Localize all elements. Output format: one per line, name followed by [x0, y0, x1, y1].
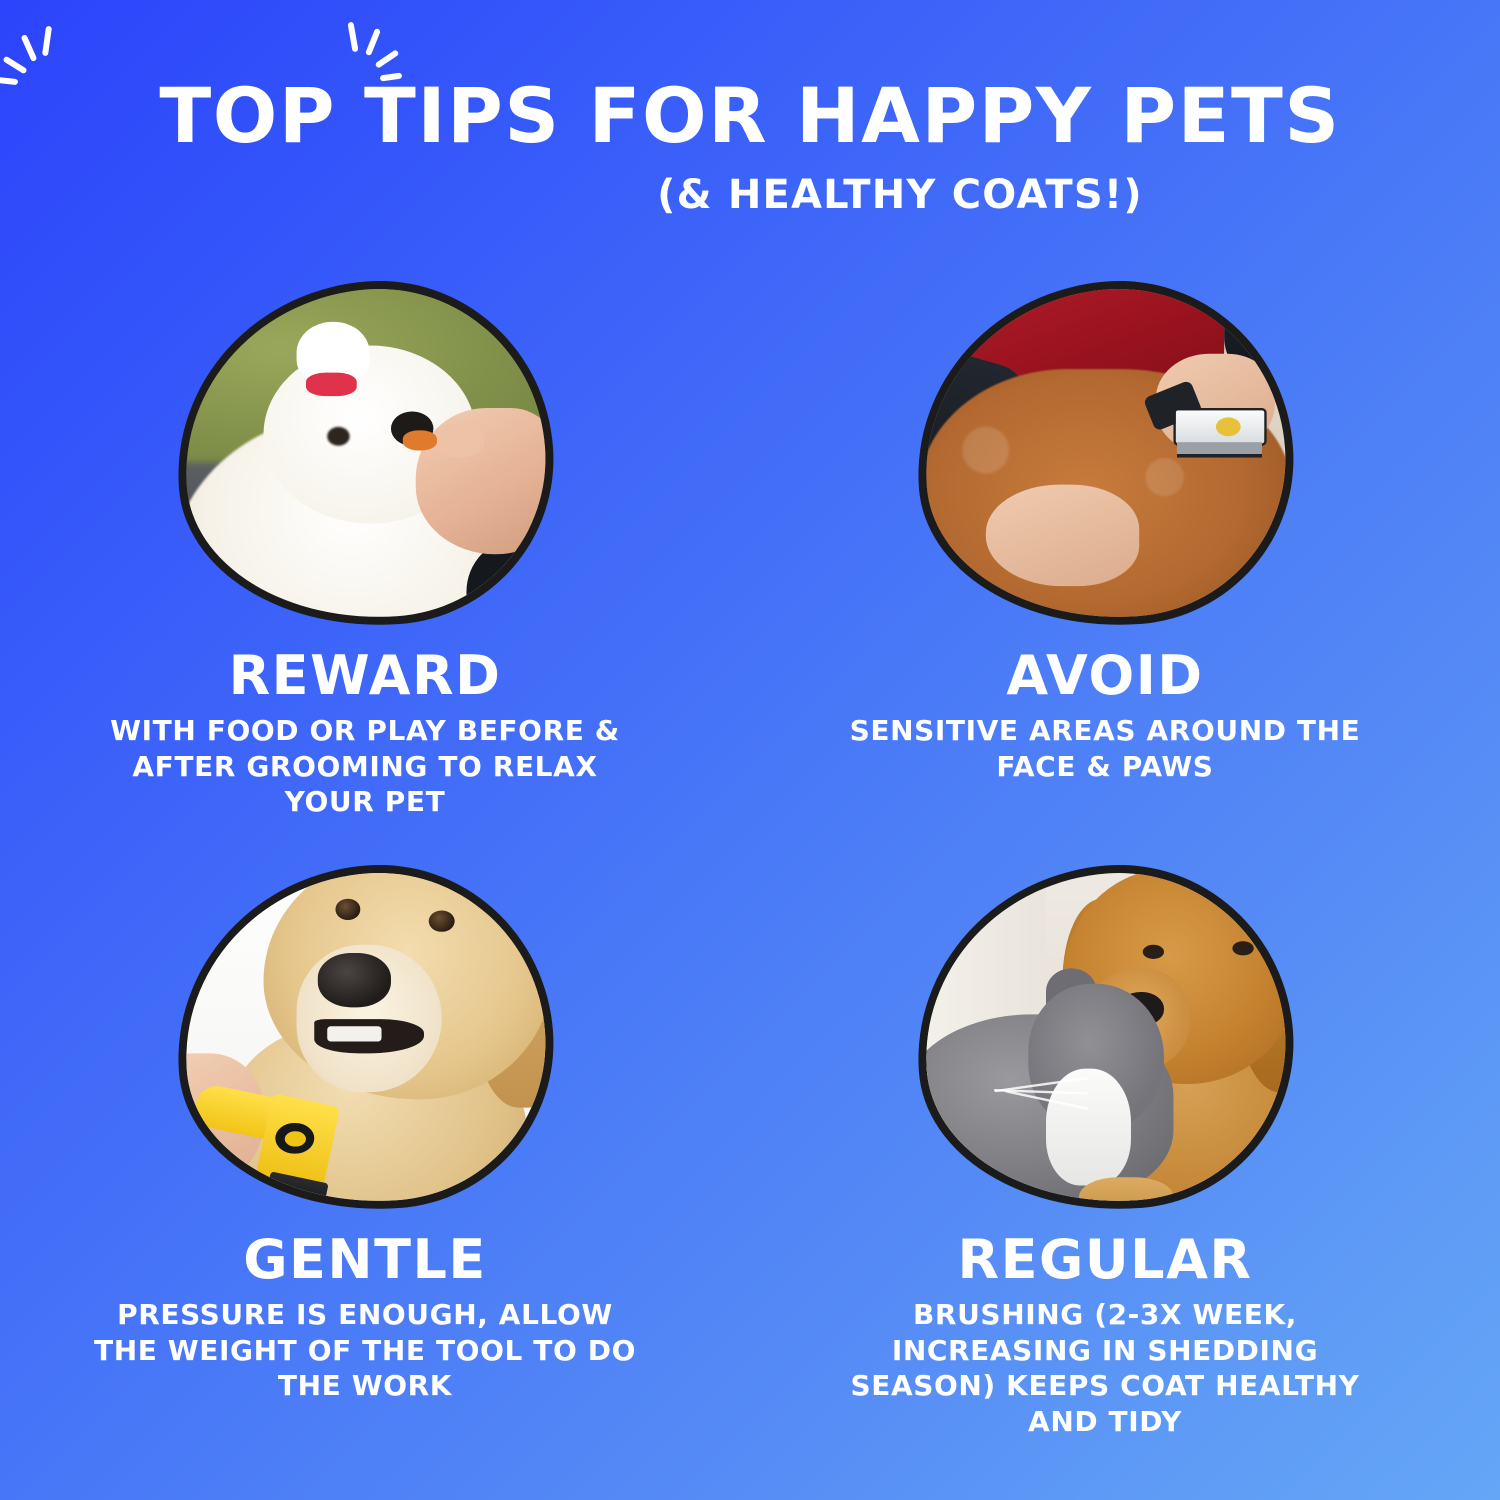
tip-photo-reward	[177, 282, 553, 626]
tip-body: BRUSHING (2-3X WEEK, INCREASING IN SHEDD…	[820, 1297, 1390, 1440]
header: TOP TIPS FOR HAPPY PETS (& HEALTHY COATS…	[0, 0, 1500, 250]
blob-clip	[174, 862, 556, 1214]
blob-frame	[165, 269, 564, 638]
page-subtitle: (& HEALTHY COATS!)	[657, 172, 1143, 218]
sparkle-burst-icon	[10, 26, 90, 88]
title-row: TOP TIPS FOR HAPPY PETS	[0, 78, 1500, 154]
tip-photo-regular	[917, 866, 1293, 1210]
tip-heading: GENTLE	[20, 1232, 710, 1289]
tip-card-gentle: GENTLE PRESSURE IS ENOUGH, ALLOW THE WEI…	[20, 844, 710, 1404]
photo-dog-treat	[174, 278, 556, 630]
tip-heading: REWARD	[20, 648, 710, 705]
blob-clip	[174, 278, 556, 630]
blob-frame	[905, 269, 1304, 638]
page-title: TOP TIPS FOR HAPPY PETS	[159, 78, 1340, 154]
photo-dog-and-cat	[914, 862, 1296, 1214]
blob-clip	[914, 278, 1296, 630]
tip-heading: AVOID	[760, 648, 1450, 705]
tip-card-reward: REWARD WITH FOOD OR PLAY BEFORE & AFTER …	[20, 260, 710, 820]
tip-card-regular: REGULAR BRUSHING (2-3X WEEK, INCREASING …	[760, 844, 1450, 1440]
tip-photo-gentle	[177, 866, 553, 1210]
tip-card-avoid: AVOID SENSITIVE AREAS AROUND THE FACE & …	[760, 260, 1450, 784]
tip-photo-avoid	[917, 282, 1293, 626]
subtitle-row: (& HEALTHY COATS!)	[0, 172, 1500, 218]
tip-body: WITH FOOD OR PLAY BEFORE & AFTER GROOMIN…	[85, 713, 645, 820]
tip-body: PRESSURE IS ENOUGH, ALLOW THE WEIGHT OF …	[85, 1297, 645, 1404]
blob-frame	[165, 853, 564, 1222]
tip-body: SENSITIVE AREAS AROUND THE FACE & PAWS	[820, 713, 1390, 785]
tip-heading: REGULAR	[760, 1232, 1450, 1289]
photo-golden-retriever-brush	[174, 862, 556, 1214]
blob-clip	[914, 862, 1296, 1214]
tips-grid: REWARD WITH FOOD OR PLAY BEFORE & AFTER …	[0, 260, 1500, 1500]
blob-frame	[905, 853, 1304, 1222]
photo-brushing-doodle	[914, 278, 1296, 630]
